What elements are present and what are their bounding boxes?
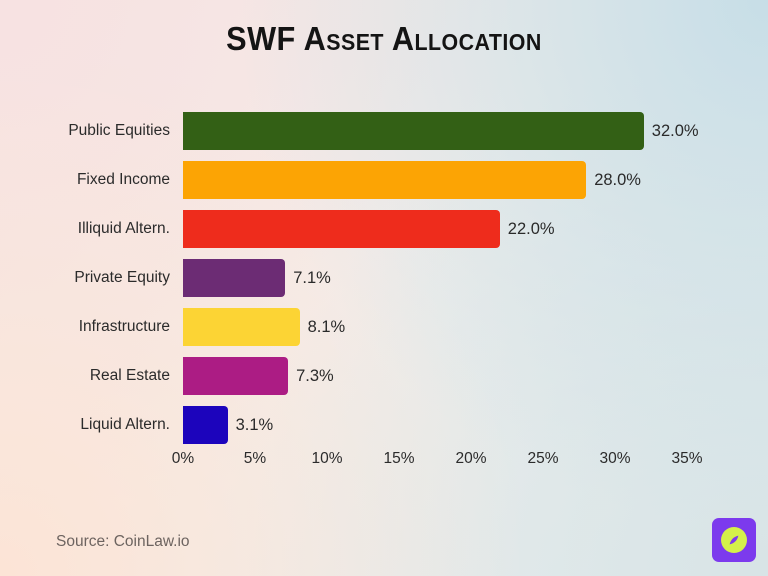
bar-chart-plot-area: Public Equities32.0%Fixed Income28.0%Ill… <box>183 112 723 446</box>
bar <box>183 112 644 150</box>
bar-value-label: 28.0% <box>594 161 641 199</box>
category-label: Infrastructure <box>79 308 170 346</box>
bar-row: Fixed Income28.0% <box>183 161 723 199</box>
category-label: Illiquid Altern. <box>78 210 170 248</box>
x-axis-tick-label: 10% <box>311 450 342 468</box>
leaf-circle-icon <box>719 525 749 555</box>
bar <box>183 308 300 346</box>
bar-value-label: 22.0% <box>508 210 555 248</box>
bar-row: Infrastructure8.1% <box>183 308 723 346</box>
x-axis-tick-label: 15% <box>383 450 414 468</box>
category-label: Public Equities <box>68 112 170 150</box>
bar-row: Public Equities32.0% <box>183 112 723 150</box>
bar-value-label: 7.3% <box>296 357 334 395</box>
bar <box>183 210 500 248</box>
x-axis-tick-label: 20% <box>455 450 486 468</box>
bar-value-label: 32.0% <box>652 112 699 150</box>
source-attribution: Source: CoinLaw.io <box>56 533 190 551</box>
category-label: Real Estate <box>90 357 170 395</box>
bar <box>183 357 288 395</box>
category-label: Fixed Income <box>77 161 170 199</box>
x-axis-tick-label: 30% <box>599 450 630 468</box>
x-axis-tick-label: 35% <box>671 450 702 468</box>
bar-value-label: 3.1% <box>236 406 274 444</box>
category-label: Liquid Altern. <box>80 406 170 444</box>
bar-row: Liquid Altern.3.1% <box>183 406 723 444</box>
x-axis-tick-label: 5% <box>244 450 266 468</box>
bar-value-label: 7.1% <box>293 259 331 297</box>
x-axis-tick-label: 0% <box>172 450 194 468</box>
bar <box>183 259 285 297</box>
bar-row: Illiquid Altern.22.0% <box>183 210 723 248</box>
bar-row: Private Equity7.1% <box>183 259 723 297</box>
chart-poster: SWF Asset Allocation Public Equities32.0… <box>0 0 768 576</box>
category-label: Private Equity <box>74 259 170 297</box>
x-axis-tick-label: 25% <box>527 450 558 468</box>
bar-row: Real Estate7.3% <box>183 357 723 395</box>
coinlaw-logo <box>712 518 756 562</box>
x-axis: 0%5%10%15%20%25%30%35% <box>183 450 723 472</box>
bar <box>183 161 586 199</box>
bar <box>183 406 228 444</box>
bar-value-label: 8.1% <box>308 308 346 346</box>
page-title: SWF Asset Allocation <box>27 20 741 58</box>
